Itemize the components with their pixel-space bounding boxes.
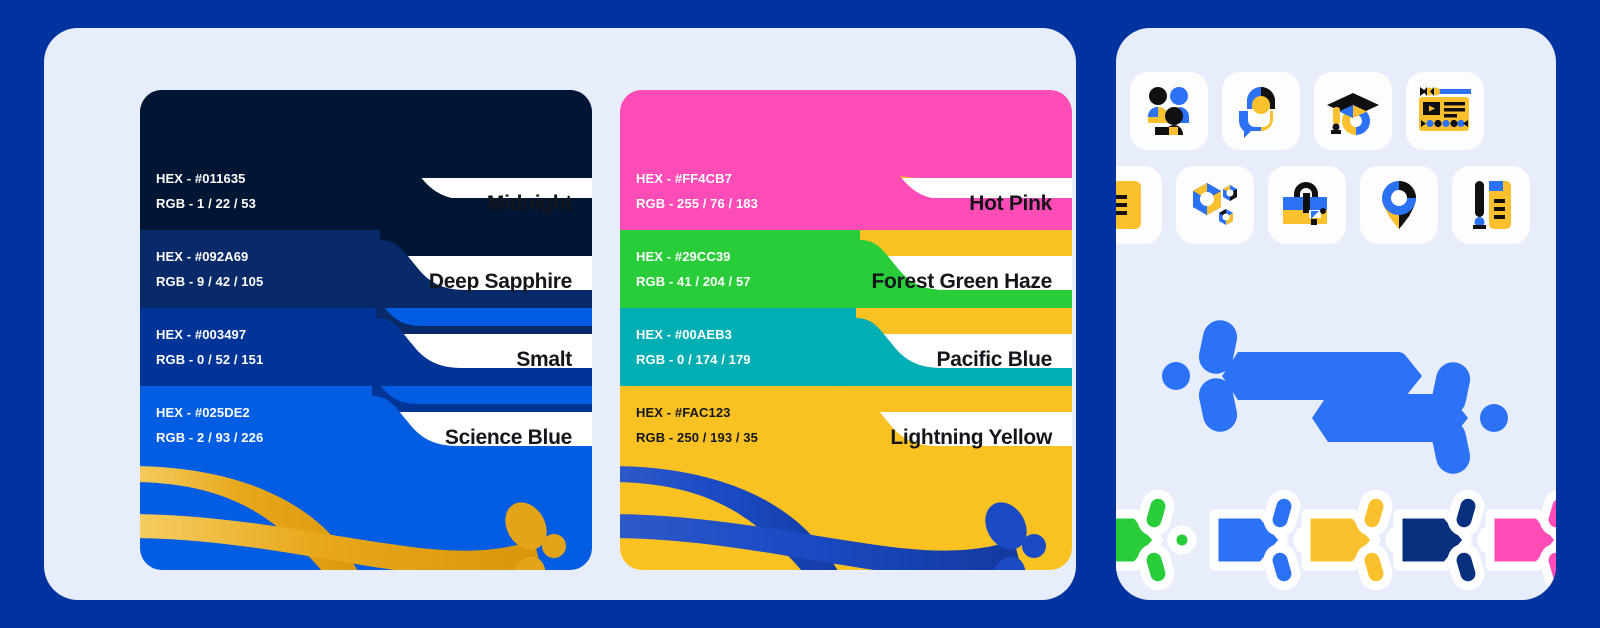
swatch-name-deep-sapphire: Deep Sapphire: [140, 256, 592, 308]
swatch-name-smalt: Smalt: [140, 334, 592, 386]
icon-tile-exclamation-note[interactable]: [1452, 166, 1530, 244]
icon-tile-video-article[interactable]: [1406, 72, 1484, 150]
identity-panel: StrangeBee Identity: [1116, 28, 1556, 600]
hex-badge-row: [1116, 480, 1556, 600]
icon-tile-location-pin[interactable]: [1360, 166, 1438, 244]
swatch-name-label: Pacific Blue: [937, 348, 1052, 372]
hexagon-network-icon: [1187, 177, 1243, 233]
people-team-icon: [1141, 83, 1197, 139]
swatch-name-midnight: Midnight: [140, 178, 592, 230]
app-frame: HEX - #011635 RGB - 1 / 22 / 53 HEX - #0…: [0, 0, 1600, 628]
chat-avatar-icon: [1233, 83, 1289, 139]
video-article-icon: [1417, 83, 1473, 139]
swatch-name-label: Deep Sapphire: [429, 270, 572, 294]
swatch-name-science-blue: Science Blue: [140, 412, 592, 464]
swatch-name-label: Science Blue: [445, 426, 572, 450]
icon-tile-briefcase[interactable]: [1268, 166, 1346, 244]
icon-tile-graduation-cap[interactable]: [1314, 72, 1392, 150]
identity-lockup: StrangeBee Identity: [1116, 316, 1556, 486]
graduation-cap-icon: [1325, 83, 1381, 139]
swatch-name-forest-green-haze: Forest Green Haze: [620, 256, 1072, 308]
icon-tile-hexagon-network[interactable]: [1176, 166, 1254, 244]
swatch-name-hot-pink: Hot Pink: [620, 178, 1072, 230]
location-pin-icon: [1371, 177, 1427, 233]
swatch-name-pacific-blue: Pacific Blue: [620, 334, 1072, 386]
hex-badge: [1116, 491, 1192, 588]
swatch-name-label: Hot Pink: [969, 192, 1052, 216]
palette-panel: HEX - #011635 RGB - 1 / 22 / 53 HEX - #0…: [44, 28, 1076, 600]
icon-tile-document-list[interactable]: [1116, 166, 1162, 244]
icon-tile-people-team[interactable]: [1130, 72, 1208, 150]
swatch-name-label: Forest Green Haze: [872, 270, 1052, 294]
color-card-blues[interactable]: HEX - #011635 RGB - 1 / 22 / 53 HEX - #0…: [140, 90, 592, 570]
swatch-name-label: Lightning Yellow: [890, 426, 1052, 450]
swatch-name-lightning-yellow: Lightning Yellow: [620, 412, 1072, 464]
exclamation-note-icon: [1463, 177, 1519, 233]
color-card-brights[interactable]: HEX - #FF4CB7 RGB - 255 / 76 / 183 HEX -…: [620, 90, 1072, 570]
briefcase-icon: [1279, 177, 1335, 233]
hex-badge-row-graphic: [1116, 480, 1556, 600]
document-list-icon: [1116, 177, 1151, 233]
swatch-name-label: Smalt: [516, 348, 572, 372]
hex-badge: [1490, 491, 1556, 588]
icon-tile-chat-avatar[interactable]: [1222, 72, 1300, 150]
swatch-name-label: Midnight: [487, 192, 572, 216]
identity-lockup-graphic: [1116, 316, 1556, 486]
